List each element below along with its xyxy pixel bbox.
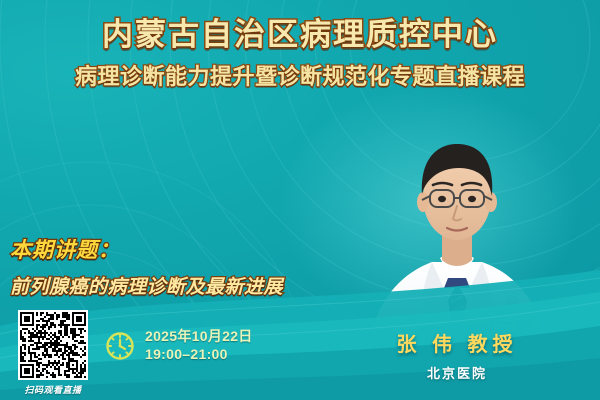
qr-code-caption: 扫码观看直播 <box>18 383 88 396</box>
speaker-name: 张 伟 教授 <box>342 328 572 357</box>
poster-header: 内蒙古自治区病理质控中心 病理诊断能力提升暨诊断规范化专题直播课程 <box>0 18 600 91</box>
schedule-block: 2025年10月22日 19:00–21:00 <box>104 328 253 364</box>
lecture-label: 本期讲题： <box>10 234 120 264</box>
doctor-portrait-icon <box>352 112 562 362</box>
page-title: 内蒙古自治区病理质控中心 <box>0 18 600 53</box>
clock-icon <box>104 330 136 362</box>
schedule-date: 2025年10月22日 <box>145 328 253 346</box>
speaker-block: 张 伟 教授 北京医院 <box>342 328 572 382</box>
qr-code-icon[interactable] <box>18 310 88 380</box>
schedule-time: 19:00–21:00 <box>145 346 253 364</box>
lecture-topic: 前列腺癌的病理诊断及最新进展 <box>10 272 283 299</box>
live-course-poster: 内蒙古自治区病理质控中心 病理诊断能力提升暨诊断规范化专题直播课程 本期讲题： … <box>0 0 600 400</box>
speaker-organization: 北京医院 <box>342 363 572 382</box>
page-subtitle: 病理诊断能力提升暨诊断规范化专题直播课程 <box>0 59 600 91</box>
qr-code-block[interactable]: 扫码观看直播 <box>18 310 88 396</box>
